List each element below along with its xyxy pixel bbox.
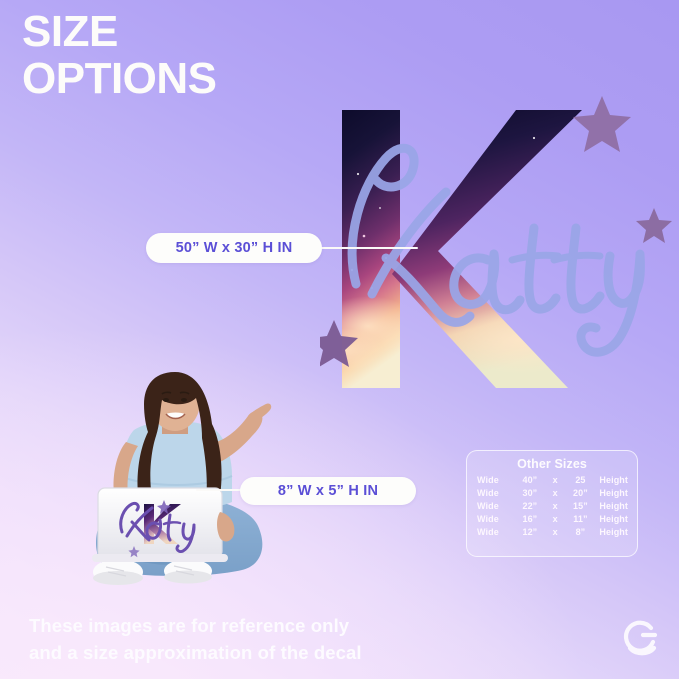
row-wide-label: Wide [473,500,514,513]
row-separator: x [546,474,565,487]
row-wide-label: Wide [473,487,514,500]
title-line-2: OPTIONS [22,55,217,102]
g-logo-icon [626,623,655,654]
poster-canvas: SIZE OPTIONS [0,0,679,679]
brand-logo [617,612,667,662]
letter-k-arms [392,110,590,388]
row-width: 16” [514,512,546,525]
callout-small-size-label: 8” W x 5” H IN [278,483,378,499]
row-height-label: Height [596,525,631,538]
row-width: 40” [514,474,546,487]
table-row: Wide 22” x 15” Height [473,500,631,513]
other-sizes-title: Other Sizes [473,457,631,471]
row-height: 8” [565,525,597,538]
other-sizes-table: Wide 40” x 25 Height Wide 30” x 20” Heig… [473,474,631,538]
row-width: 30” [514,487,546,500]
laptop [92,488,228,562]
row-separator: x [546,500,565,513]
row-height-label: Height [596,487,631,500]
table-row: Wide 16” x 11” Height [473,512,631,525]
row-wide-label: Wide [473,525,514,538]
page-title: SIZE OPTIONS [22,8,217,102]
star-icon [573,96,631,152]
leader-line-large [318,247,418,249]
row-wide-label: Wide [473,474,514,487]
disclaimer: These images are for reference only and … [29,613,362,667]
row-height-label: Height [596,474,631,487]
disclaimer-line-2: and a size approximation of the decal [29,640,362,667]
row-height: 15” [565,500,597,513]
other-sizes-panel: Other Sizes Wide 40” x 25 Height Wide 30… [466,450,638,557]
callout-large-size-label: 50” W x 30” H IN [176,240,293,256]
row-wide-label: Wide [473,512,514,525]
row-height: 25 [565,474,597,487]
row-height-label: Height [596,512,631,525]
leader-line-small [196,489,246,491]
row-separator: x [546,525,565,538]
star-icon [636,208,672,243]
row-separator: x [546,512,565,525]
callout-large-size: 50” W x 30” H IN [146,233,322,263]
row-separator: x [546,487,565,500]
title-line-1: SIZE [22,8,217,55]
row-width: 12” [514,525,546,538]
table-row: Wide 30” x 20” Height [473,487,631,500]
row-width: 22” [514,500,546,513]
row-height: 11” [565,512,597,525]
row-height-label: Height [596,500,631,513]
row-height: 20” [565,487,597,500]
table-row: Wide 40” x 25 Height [473,474,631,487]
callout-small-size: 8” W x 5” H IN [240,477,416,505]
disclaimer-line-1: These images are for reference only [29,613,362,640]
table-row: Wide 12” x 8” Height [473,525,631,538]
